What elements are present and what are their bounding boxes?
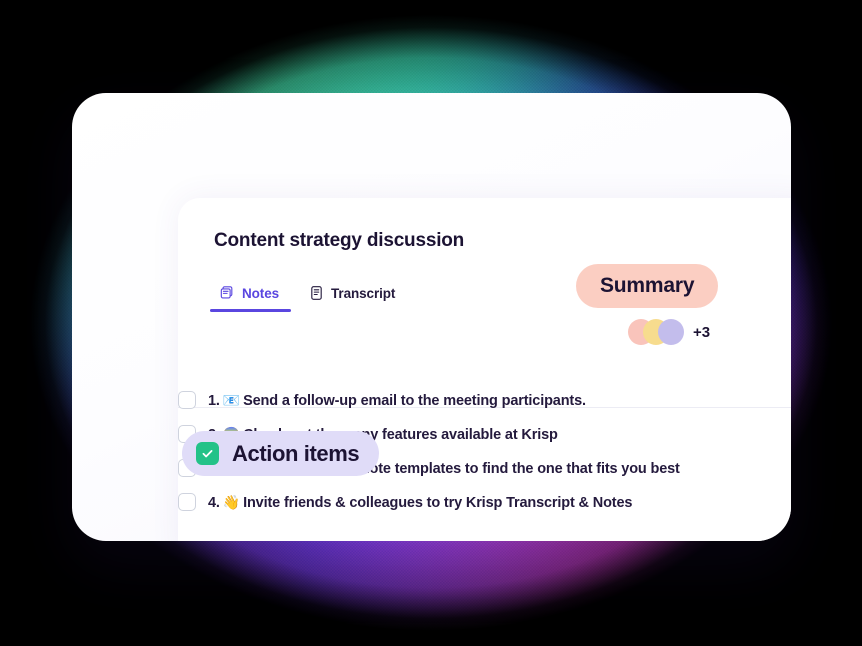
task-label: 4.👋Invite friends & colleagues to try Kr… (208, 494, 632, 511)
notes-card: Content strategy discussion Notes (72, 93, 791, 541)
transcript-document-icon (309, 285, 324, 301)
screenshot-stage: Content strategy discussion Notes (0, 0, 862, 646)
panel-header: Content strategy discussion (178, 198, 791, 252)
tab-notes-label: Notes (242, 286, 279, 301)
page-title: Content strategy discussion (214, 230, 791, 252)
action-items-badge: Action items (182, 431, 379, 476)
tab-transcript[interactable]: Transcript (299, 281, 407, 312)
list-item[interactable]: 4.👋Invite friends & colleagues to try Kr… (178, 485, 791, 519)
task-number: 4. (208, 495, 220, 511)
avatar (658, 319, 684, 345)
task-number: 1. (208, 393, 220, 409)
sticky-note-icon (220, 285, 235, 301)
participant-avatars[interactable]: +3 (628, 319, 710, 345)
action-items-heading: Action items (232, 441, 359, 467)
list-item[interactable]: 1.📧Send a follow-up email to the meeting… (178, 383, 791, 417)
task-emoji: 📧 (223, 392, 240, 408)
task-emoji: 👋 (223, 494, 240, 510)
task-text: Send a follow-up email to the meeting pa… (243, 393, 586, 409)
task-checkbox[interactable] (178, 493, 196, 511)
task-label: 1.📧Send a follow-up email to the meeting… (208, 392, 586, 409)
summary-badge[interactable]: Summary (576, 264, 718, 308)
green-checkbox-icon (196, 442, 219, 465)
task-checkbox[interactable] (178, 391, 196, 409)
summary-badge-label: Summary (600, 274, 694, 298)
task-text: Invite friends & colleagues to try Krisp… (243, 495, 632, 511)
tab-notes[interactable]: Notes (210, 281, 291, 312)
tab-transcript-label: Transcript (331, 286, 395, 301)
participants-overflow-count: +3 (693, 324, 710, 341)
